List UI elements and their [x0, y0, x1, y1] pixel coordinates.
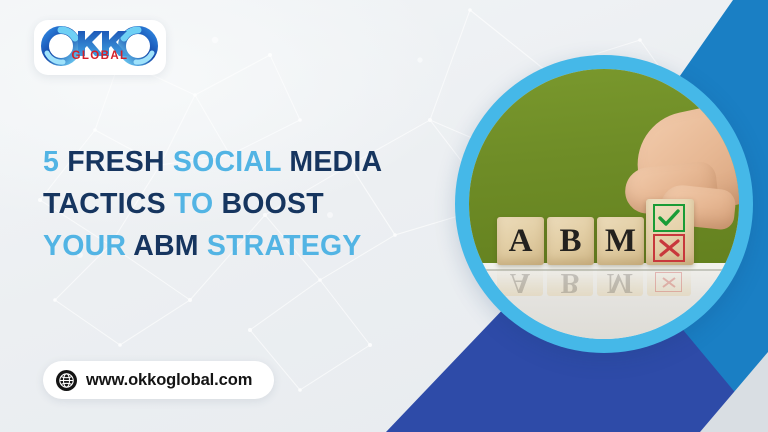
- website-url-bar[interactable]: www.okkoglobal.com: [43, 361, 274, 399]
- logo[interactable]: GLOBAL: [34, 20, 166, 75]
- block-letter: B: [547, 217, 594, 265]
- website-url-text: www.okkoglobal.com: [86, 371, 252, 390]
- headline-word: TO: [174, 188, 213, 220]
- headline-word: MEDIA: [289, 146, 382, 178]
- cross-mark-box: [653, 234, 685, 262]
- headline-word: STRATEGY: [207, 230, 362, 262]
- cross-reflection: [655, 272, 682, 292]
- logo-mark: [34, 20, 166, 75]
- block-reflection: A: [497, 266, 543, 296]
- photo-ring: A B M A B M: [455, 55, 753, 353]
- block-letter: A: [497, 217, 544, 265]
- logo-tagline: GLOBAL: [34, 50, 166, 62]
- headline-word: FRESH: [67, 146, 165, 178]
- photo-scene: A B M A B M: [469, 69, 739, 339]
- block-letter: M: [597, 217, 644, 265]
- headline-word: SOCIAL: [173, 146, 281, 178]
- headline-word: 5: [43, 146, 59, 178]
- globe-icon: [56, 370, 77, 391]
- block-reflection: M: [597, 266, 643, 296]
- headline-line-1: 5 FRESH SOCIAL MEDIA: [43, 141, 433, 183]
- headline-line-3: YOUR ABM STRATEGY: [43, 225, 433, 267]
- headline-line-2: TACTICS TO BOOST: [43, 183, 433, 225]
- blog-banner: A B M A B M: [0, 0, 768, 432]
- check-mark-box: [653, 204, 685, 232]
- headline-word: ABM: [133, 230, 199, 262]
- block-reflection: B: [547, 266, 593, 296]
- headline-word: BOOST: [222, 188, 324, 220]
- headline-word: YOUR: [43, 230, 126, 262]
- photo-image: A B M A B M: [469, 69, 739, 339]
- headline: 5 FRESH SOCIAL MEDIA TACTICS TO BOOST YO…: [43, 141, 433, 267]
- headline-word: TACTICS: [43, 188, 166, 220]
